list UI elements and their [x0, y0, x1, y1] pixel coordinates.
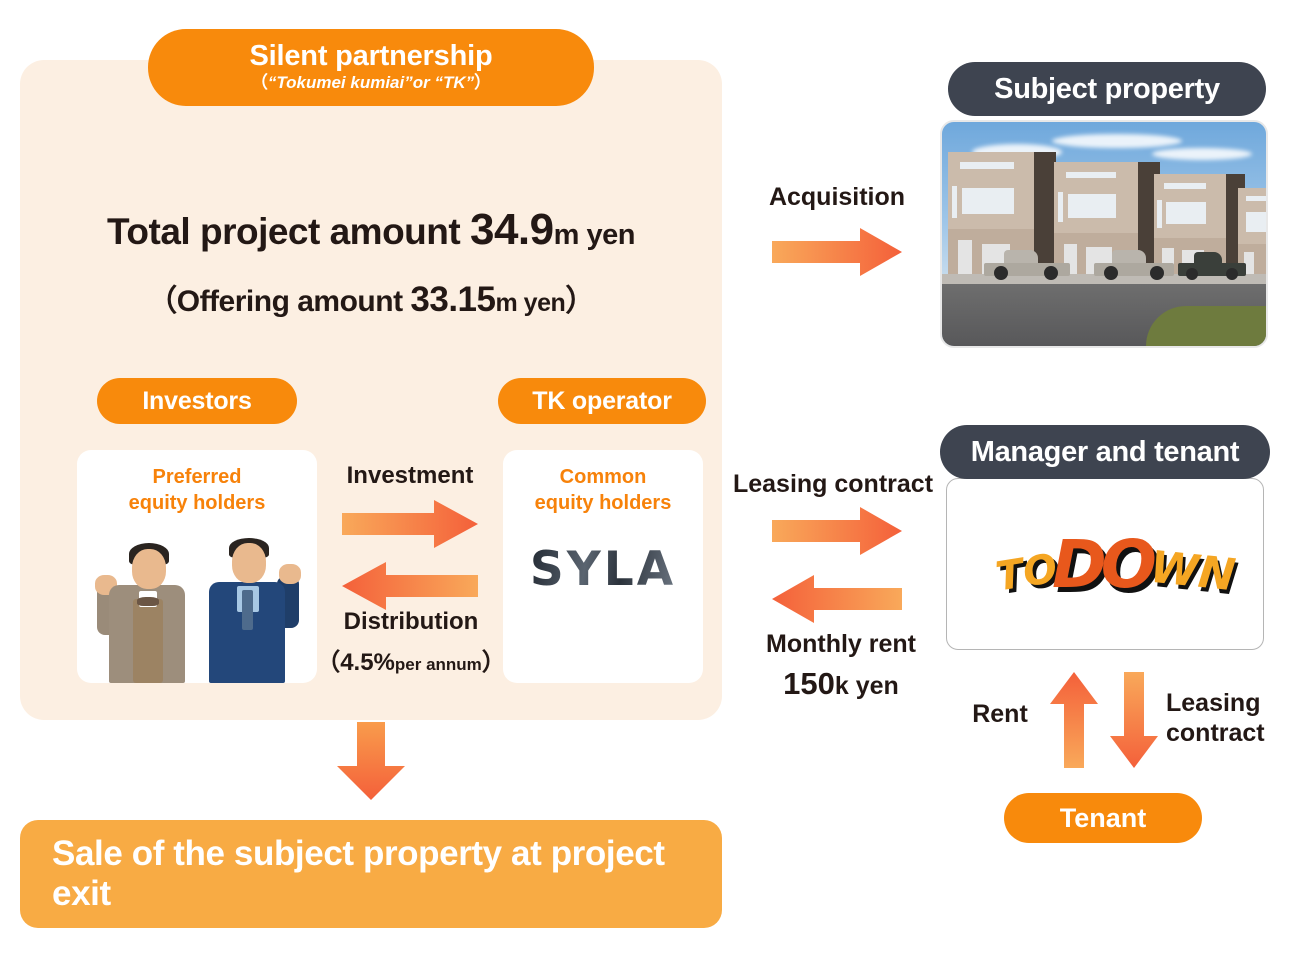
rate-value: 4.5% [340, 649, 395, 676]
arrow-down-icon [337, 722, 405, 800]
exit-banner: Sale of the subject property at project … [20, 820, 722, 928]
arrow-down-icon [1110, 672, 1158, 768]
silent-partnership-subtitle: （“Tokumei kumiai”or “TK”） [251, 72, 491, 94]
silent-partnership-title: Silent partnership [250, 41, 493, 71]
arrow-up-icon [1050, 672, 1098, 768]
distribution-label: Distribution [315, 608, 507, 636]
rate-paren-close: ） [482, 649, 506, 676]
monthly-rent-label: Monthly rent [750, 630, 932, 659]
offering-paren-open: （ [147, 285, 177, 318]
subtitle-paren-close: ） [474, 73, 491, 92]
investors-badge: Investors [97, 378, 297, 424]
common-equity-card: Common equity holders SYLA [503, 450, 703, 683]
total-project-unit: m yen [554, 219, 635, 251]
vehicle-1 [978, 250, 1070, 280]
arrow-right-icon [772, 228, 902, 276]
syla-logo-text: SYLA [530, 542, 676, 597]
rent-label: Rent [955, 700, 1045, 729]
total-project-prefix: Total project amount [107, 211, 460, 252]
manager-logo-box: TO DO WN [946, 478, 1264, 650]
tenant-badge: Tenant [1004, 793, 1202, 843]
investor-person-left [99, 543, 195, 683]
tenant-label: Tenant [1060, 803, 1147, 834]
offering-amount: （Offering amount 33.15m yen） [20, 276, 722, 320]
subtitle-paren-open: （ [251, 73, 268, 92]
rate-suffix: per annum [395, 655, 482, 674]
manager-and-tenant-badge: Manager and tenant [940, 425, 1270, 479]
preferred-equity-label: Preferred equity holders [77, 465, 317, 516]
rate-paren-open: （ [316, 649, 340, 676]
tk-operator-label: TK operator [532, 387, 671, 416]
arrow-right-icon [772, 507, 902, 555]
investors-label: Investors [142, 387, 251, 416]
silent-partnership-badge: Silent partnership （“Tokumei kumiai”or “… [148, 29, 594, 106]
arrow-left-icon [772, 575, 902, 623]
offering-paren-close: ） [565, 285, 595, 318]
monthly-rent-value: 150 [783, 666, 835, 701]
monthly-rent-amount: 150k yen [750, 666, 932, 702]
investor-person-right [197, 538, 297, 683]
manager-and-tenant-label: Manager and tenant [971, 436, 1240, 469]
vehicle-3 [1176, 252, 1248, 280]
arrow-right-icon [342, 500, 478, 548]
todown-part3: WN [1148, 542, 1238, 602]
investors-photo [77, 538, 317, 683]
arrow-left-icon [342, 562, 478, 610]
preferred-equity-label-line1: Preferred [77, 465, 317, 491]
subject-property-badge: Subject property [948, 62, 1266, 116]
silent-partnership-panel: Total project amount 34.9m yen （Offering… [20, 60, 722, 720]
todown-part2: DO [1052, 526, 1151, 603]
acquisition-label: Acquisition [757, 183, 917, 212]
subject-property-label: Subject property [994, 73, 1220, 106]
exit-banner-label: Sale of the subject property at project … [52, 834, 722, 914]
diagram-stage: Total project amount 34.9m yen （Offering… [0, 0, 1296, 972]
common-equity-label-line1: Common [503, 465, 703, 491]
subtitle-text: “Tokumei kumiai”or “TK” [268, 73, 474, 92]
grass [1146, 306, 1266, 346]
todown-logo: TO DO WN [990, 524, 1220, 604]
distribution-rate: （4.5%per annum） [307, 642, 515, 677]
todown-part1: TO [993, 545, 1061, 600]
common-equity-label: Common equity holders [503, 465, 703, 516]
leasing-contract-line2: contract [1166, 718, 1286, 748]
total-project-value: 34.9 [470, 205, 554, 254]
offering-value: 33.15 [410, 280, 495, 319]
preferred-equity-card: Preferred equity holders [77, 450, 317, 683]
leasing-contract-label-2: Leasing contract [1166, 688, 1286, 748]
offering-unit: m yen [496, 289, 566, 317]
investment-label: Investment [320, 462, 500, 490]
preferred-equity-label-line2: equity holders [77, 491, 317, 517]
offering-prefix: Offering amount [177, 285, 403, 318]
subject-property-photo [940, 120, 1268, 348]
vehicle-2 [1090, 250, 1176, 280]
total-project-amount: Total project amount 34.9m yen [20, 205, 722, 255]
monthly-rent-unit: k yen [835, 672, 899, 700]
syla-logo: SYLA [503, 542, 703, 597]
tk-operator-badge: TK operator [498, 378, 706, 424]
common-equity-label-line2: equity holders [503, 491, 703, 517]
leasing-contract-label: Leasing contract [722, 470, 944, 499]
leasing-contract-line1: Leasing [1166, 688, 1286, 718]
